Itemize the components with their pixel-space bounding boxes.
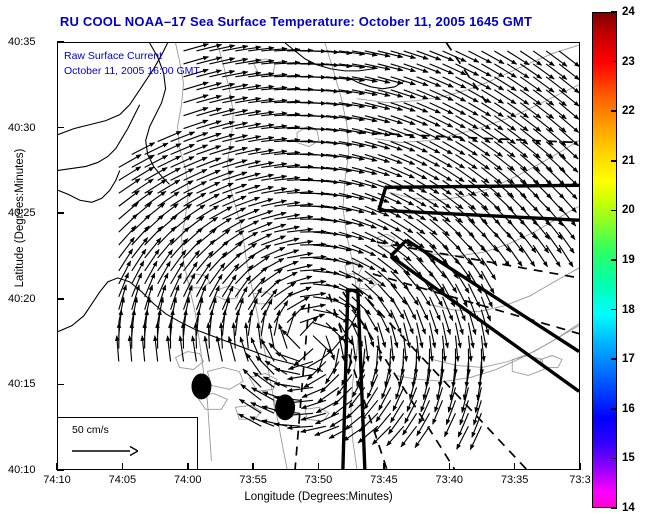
y-axis-ticks: 40:3540:3040:2540:2040:1540:10: [0, 0, 651, 519]
colorbar-tick-label: 24: [622, 6, 635, 18]
colorbar-tick-mark: [611, 408, 617, 410]
colorbar-tick-label: 23: [622, 56, 635, 68]
y-tick-mark: [57, 469, 64, 471]
colorbar-tick-label: 19: [622, 254, 635, 266]
colorbar-tick-mark: [611, 309, 617, 311]
y-tick-mark: [57, 212, 64, 214]
colorbar-tick-mark: [611, 458, 617, 460]
colorbar-tick-mark: [611, 507, 617, 509]
colorbar-tick-label: 20: [622, 204, 635, 216]
y-tick-label: 40:10: [8, 464, 36, 476]
colorbar-tick-label: 21: [622, 155, 635, 167]
colorbar-tick-mark: [611, 210, 617, 212]
x-axis-label: Longitude (Degrees:Minutes): [57, 491, 580, 503]
colorbar-tick-label: 16: [622, 403, 635, 415]
colorbar-tick-mark: [611, 358, 617, 360]
colorbar-tick-mark: [611, 61, 617, 63]
colorbar-tick-mark: [611, 110, 617, 112]
colorbar-tick-mark: [611, 259, 617, 261]
y-tick-label: 40:15: [8, 378, 36, 390]
y-tick-mark: [57, 127, 64, 129]
y-tick-mark: [57, 298, 64, 300]
colorbar-tick-mark: [611, 160, 617, 162]
colorbar-tick-label: 17: [622, 353, 635, 365]
colorbar-tick-label: 15: [622, 452, 635, 464]
y-tick-mark: [57, 41, 64, 43]
colorbar-tick-label: 18: [622, 304, 635, 316]
y-tick-label: 40:35: [8, 36, 36, 48]
colorbar-tick-label: 22: [622, 105, 635, 117]
y-axis-label: Latitude (Degrees:Minutes): [14, 108, 26, 328]
colorbar-tick-mark: [611, 11, 617, 13]
colorbar-tick-label: 14: [622, 502, 635, 514]
y-tick-mark: [57, 384, 64, 386]
